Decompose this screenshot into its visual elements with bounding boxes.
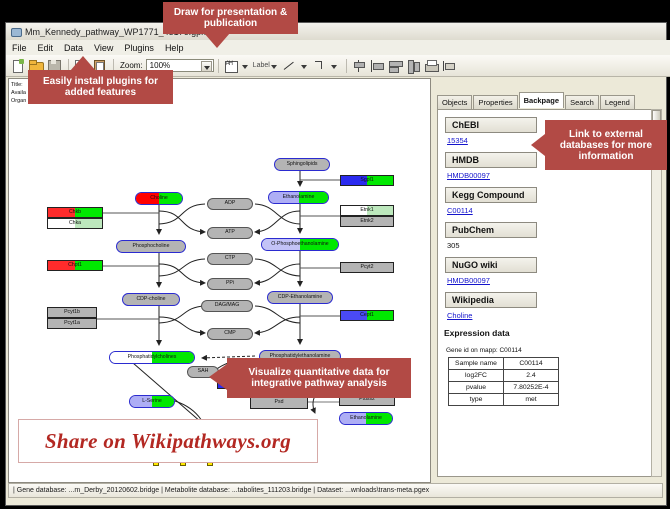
gene-label: Chkb <box>69 210 81 215</box>
tab-properties[interactable]: Properties <box>473 95 517 109</box>
tab-legend[interactable]: Legend <box>600 95 635 109</box>
gene-label: Ptdss2 <box>359 397 375 402</box>
expression-data-title: Expression data <box>444 328 657 338</box>
node-phosphocholine[interactable]: Phosphocholine <box>116 240 186 253</box>
expr-key: log2FC <box>449 370 504 382</box>
table-row: type met <box>449 394 559 406</box>
label-caption: Label <box>253 62 270 69</box>
callout-links: Link to external databases for more info… <box>545 120 667 170</box>
line-icon[interactable] <box>282 58 298 74</box>
menu-data[interactable]: Data <box>63 43 84 53</box>
gene-pcyt2[interactable]: Pcyt2 <box>340 262 394 273</box>
db-header-pubchem: PubChem <box>445 222 537 238</box>
db-header-wikipedia: Wikipedia <box>445 292 537 308</box>
node-dag-mag[interactable]: DAG/MAG <box>201 300 253 312</box>
node-label: CTP <box>225 256 235 261</box>
gene-label: Pcyt2 <box>361 265 374 270</box>
tab-backpage[interactable]: Backpage <box>519 92 564 108</box>
callout-plugins-text: Easily install plugins for added feature… <box>34 76 167 98</box>
title-bar: Mm_Kennedy_pathway_WP1771_45176.gpml <box>6 23 666 41</box>
node-label: PPi <box>226 281 234 286</box>
toolbar-separator <box>346 59 347 73</box>
gene-etnk1[interactable]: Etnk1 <box>340 205 394 216</box>
gene-label: Etnk2 <box>360 219 373 224</box>
gene-label: Chka <box>69 221 81 226</box>
expr-value: met <box>504 394 559 406</box>
node-cdp-ethanolamine[interactable]: CDP-Ethanolamine <box>267 291 333 304</box>
node-label: Ethanolamine <box>350 416 382 421</box>
align-left-icon[interactable] <box>369 58 385 74</box>
db-link-kegg[interactable]: C00114 <box>447 206 657 215</box>
menu-bar: File Edit Data View Plugins Help <box>6 40 670 56</box>
gene-chkb[interactable]: Chkb <box>47 207 103 218</box>
callout-plugins-arrow-icon <box>70 56 96 71</box>
canvas-info-labels: Title: Availa Organ <box>11 81 26 105</box>
gene-label: Pcyt1a <box>64 321 80 326</box>
chevron-down-icon[interactable] <box>300 59 309 73</box>
chevron-down-icon[interactable] <box>330 59 339 73</box>
node-adp[interactable]: ADP <box>207 198 253 210</box>
gene-etnk2[interactable]: Etnk2 <box>340 216 394 227</box>
node-label: O-Phosphoethanolamine <box>271 242 328 247</box>
gene-pcyt1b[interactable]: Pcyt1b <box>47 307 97 318</box>
callout-draw-arrow-icon <box>204 33 230 48</box>
gene-label: Etnk1 <box>360 208 373 213</box>
menu-view[interactable]: View <box>93 43 114 53</box>
node-l-serine-left[interactable]: L-Serine <box>129 395 175 408</box>
stack-icon[interactable] <box>405 58 421 74</box>
node-label: CDP-Ethanolamine <box>278 295 322 300</box>
menu-file[interactable]: File <box>11 43 28 53</box>
callout-visualize-arrow-icon <box>209 364 227 390</box>
node-label: CDP-choline <box>136 297 165 302</box>
gene-label: Sgpl1 <box>360 178 373 183</box>
connector-icon[interactable] <box>312 58 328 74</box>
node-label: ADP <box>225 201 236 206</box>
node-label: DAG/MAG <box>215 303 240 308</box>
callout-links-text: Link to external databases for more info… <box>551 129 661 162</box>
node-ethanolamine-right[interactable]: Ethanolamine <box>339 412 393 425</box>
node-ethanolamine-top[interactable]: Ethanolamine <box>268 191 329 204</box>
callout-share-text: Share on Wikipathways.org <box>45 429 291 454</box>
db-header-nugowiki: NuGO wiki <box>445 257 537 273</box>
db-link-nugowiki[interactable]: HMDB00097 <box>447 276 657 285</box>
tab-objects[interactable]: Objects <box>437 95 472 109</box>
callout-links-arrow-icon <box>531 134 545 156</box>
toolbar-separator <box>218 59 219 73</box>
node-choline-top[interactable]: Choline <box>135 192 183 205</box>
node-cmp[interactable]: CMP <box>207 328 253 340</box>
node-ctp[interactable]: CTP <box>207 253 253 265</box>
menu-plugins[interactable]: Plugins <box>123 43 155 53</box>
db-value-pubchem: 305 <box>447 241 657 250</box>
canvas-label-organism: Organ <box>11 97 26 105</box>
db-link-wikipedia[interactable]: Choline <box>447 311 657 320</box>
node-label: Ethanolamine <box>283 195 315 200</box>
node-label: Phosphatidylcholines <box>128 355 177 360</box>
node-cdp-choline[interactable]: CDP-choline <box>122 293 180 306</box>
status-text: | Gene database: ...m_Derby_20120602.bri… <box>9 487 429 494</box>
status-bar: | Gene database: ...m_Derby_20120602.bri… <box>8 483 663 498</box>
callout-draw: Draw for presentation & publication <box>163 2 298 34</box>
node-ppi[interactable]: PPi <box>207 278 253 290</box>
chevron-down-icon[interactable] <box>201 61 212 72</box>
align-center-icon[interactable] <box>351 58 367 74</box>
node-o-phosphoethanolamine[interactable]: O-Phosphoethanolamine <box>261 238 339 251</box>
callout-plugins: Easily install plugins for added feature… <box>28 70 173 104</box>
db-header-kegg: Kegg Compound <box>445 187 537 203</box>
gene-pcyt1a[interactable]: Pcyt1a <box>47 318 97 329</box>
gene-chka[interactable]: Chka <box>47 218 103 229</box>
chevron-down-icon[interactable] <box>241 59 250 73</box>
expr-value: 2.4 <box>504 370 559 382</box>
callout-share: Share on Wikipathways.org <box>18 419 318 463</box>
node-label: Phosphocholine <box>133 244 170 249</box>
gene-label: Cept1 <box>360 313 374 318</box>
print-icon[interactable] <box>423 58 439 74</box>
expr-key: Sample name <box>449 358 504 370</box>
gene-id-line: Gene id on mapp: C00114 <box>446 347 657 354</box>
db-header-chebi: ChEBI <box>445 117 537 133</box>
expr-key: pvalue <box>449 382 504 394</box>
node-label: CMP <box>224 331 236 336</box>
textbox-icon[interactable] <box>223 58 239 74</box>
gene-label: Chpt1 <box>68 263 82 268</box>
node-label: Sphingolipids <box>287 162 318 167</box>
gene-label: Pcyt1b <box>64 310 80 315</box>
callout-draw-text: Draw for presentation & publication <box>169 7 292 29</box>
canvas-label-avail: Availa <box>11 89 26 97</box>
expression-table: Sample name C00114 log2FC 2.4 pvalue 7.8… <box>448 357 559 406</box>
expr-value: C00114 <box>504 358 559 370</box>
screenshot-root: Mm_Kennedy_pathway_WP1771_45176.gpml Fil… <box>0 0 670 509</box>
expr-key: type <box>449 394 504 406</box>
new-icon[interactable] <box>10 58 26 74</box>
menu-help[interactable]: Help <box>164 43 185 53</box>
zoom-label: Zoom: <box>120 61 143 70</box>
gene-label: Psd <box>275 400 284 405</box>
node-atp[interactable]: ATP <box>207 227 253 239</box>
chevron-down-icon[interactable] <box>270 59 279 73</box>
gene-cept1[interactable]: Cept1 <box>340 310 394 321</box>
node-label: Choline <box>150 196 168 201</box>
gene-sgpl1[interactable]: Sgpl1 <box>340 175 394 186</box>
table-row: pvalue 7.80252E-4 <box>449 382 559 394</box>
order-icon[interactable] <box>441 58 457 74</box>
canvas-label-title: Title: <box>11 81 26 89</box>
db-header-hmdb: HMDB <box>445 152 537 168</box>
callout-visualize: Visualize quantitative data for integrat… <box>227 358 411 398</box>
node-label: ATP <box>225 230 235 235</box>
node-label: SAH <box>198 369 209 374</box>
menu-edit[interactable]: Edit <box>37 43 55 53</box>
table-row: Sample name C00114 <box>449 358 559 370</box>
callout-visualize-text: Visualize quantitative data for integrat… <box>233 367 405 389</box>
distribute-icon[interactable] <box>387 58 403 74</box>
tab-search[interactable]: Search <box>565 95 599 109</box>
node-phosphatidylcholines[interactable]: Phosphatidylcholines <box>109 351 195 364</box>
pathvisio-icon <box>10 26 21 37</box>
node-label: L-Serine <box>142 399 162 404</box>
side-panel-tabs: Objects Properties Backpage Search Legen… <box>437 95 636 109</box>
gene-chpt1[interactable]: Chpt1 <box>47 260 103 271</box>
zoom-value: 100% <box>150 61 170 70</box>
db-link-hmdb[interactable]: HMDB00097 <box>447 171 657 180</box>
node-sphingolipids[interactable]: Sphingolipids <box>274 158 330 171</box>
table-row: log2FC 2.4 <box>449 370 559 382</box>
expr-value: 7.80252E-4 <box>504 382 559 394</box>
